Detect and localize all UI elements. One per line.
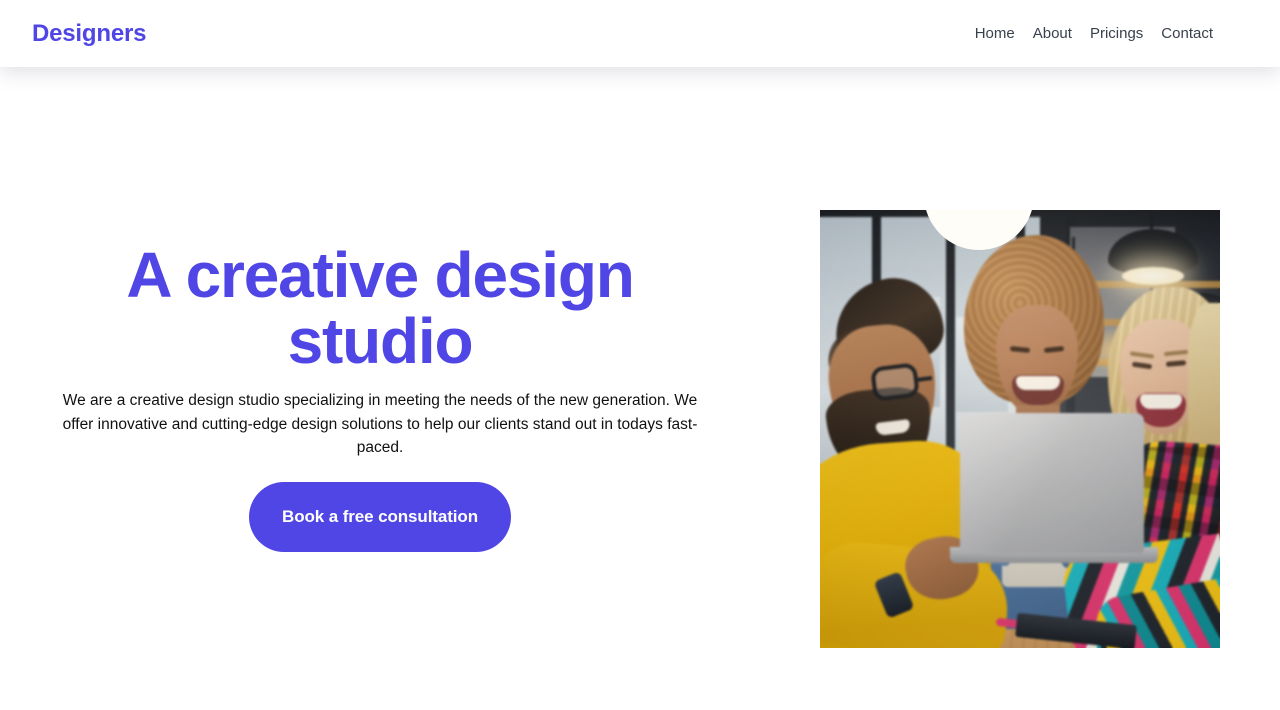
brand-logo[interactable]: Designers xyxy=(30,22,146,46)
cta-container: Book a free consultation xyxy=(60,482,700,552)
hero-title: A creative design studio xyxy=(60,243,700,375)
photo-lamp-cord xyxy=(1150,207,1153,231)
decorative-circle-mask xyxy=(820,140,1220,210)
photo-person-curly-teeth xyxy=(1016,376,1060,390)
photo-person-blonde-teeth xyxy=(1140,394,1182,409)
hero-subtitle: We are a creative design studio speciali… xyxy=(60,389,700,460)
hero-copy: A creative design studio We are a creati… xyxy=(0,243,760,552)
nav-item-pricings[interactable]: Pricings xyxy=(1081,19,1152,49)
site-header: Designers Home About Pricings Contact xyxy=(0,0,1280,67)
photo-window-mullion xyxy=(946,217,955,467)
nav-item-home[interactable]: Home xyxy=(966,19,1024,49)
nav-item-contact[interactable]: Contact xyxy=(1152,19,1222,49)
book-consultation-button[interactable]: Book a free consultation xyxy=(249,482,511,552)
photo-laptop-sheen xyxy=(960,413,1144,553)
photo-eyeglasses xyxy=(870,362,920,401)
photo-lamp-bulb xyxy=(1122,267,1184,285)
main-navigation: Home About Pricings Contact xyxy=(966,19,1250,49)
hero-media xyxy=(820,140,1220,581)
nav-item-about[interactable]: About xyxy=(1024,19,1081,49)
hero-photo xyxy=(820,207,1220,648)
